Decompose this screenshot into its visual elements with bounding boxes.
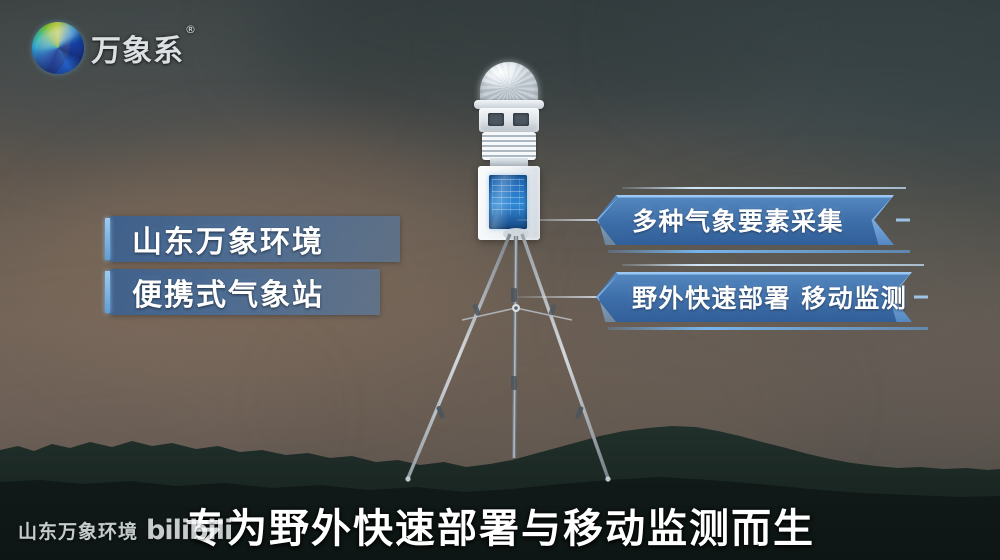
banner-bottom-line xyxy=(608,250,910,253)
left-banner-product[interactable]: 便携式气象站 xyxy=(110,269,380,315)
connector-line xyxy=(517,219,597,221)
video-frame: 万象系® xyxy=(0,0,1000,560)
globe-swirl-icon xyxy=(32,22,84,74)
registered-mark-icon: ® xyxy=(185,24,197,35)
radiation-shield-rings xyxy=(482,132,536,160)
feature-banner-deployment[interactable]: 野外快速部署 移动监测 xyxy=(594,272,912,322)
feature-banner-label: 野外快速部署 移动监测 xyxy=(594,272,912,322)
accent-bar-icon xyxy=(105,218,110,260)
feature-banner-collection[interactable]: 多种气象要素采集 xyxy=(594,195,894,245)
feature-banner-label: 多种气象要素采集 xyxy=(594,195,894,245)
tripod-stand xyxy=(390,228,630,496)
vent-opening xyxy=(513,113,529,126)
brand-logo-watermark: 万象系® xyxy=(32,22,197,74)
banner-top-line xyxy=(622,187,906,189)
bilibili-watermark: bilibili xyxy=(146,518,232,544)
portable-weather-station xyxy=(452,62,564,242)
sensor-head xyxy=(479,108,539,132)
banner-tip-icon xyxy=(896,219,910,222)
banner-tip-icon xyxy=(914,296,928,299)
brand-text: 万象系 xyxy=(91,34,184,69)
company-watermark: 山东万象环境 xyxy=(18,517,138,544)
brand-name: 万象系® xyxy=(91,26,197,70)
banner-top-line xyxy=(622,264,924,266)
left-banner-group: 山东万象环境 便携式气象站 xyxy=(110,216,400,322)
vent-opening xyxy=(488,113,504,126)
banner-bottom-line xyxy=(608,327,928,330)
connector-line xyxy=(517,296,597,298)
bottom-left-watermark: 山东万象环境 bilibili xyxy=(18,517,232,544)
left-banner-label: 山东万象环境 xyxy=(132,217,324,261)
left-banner-label: 便携式气象站 xyxy=(132,270,324,314)
cloud-blotch xyxy=(640,0,1000,130)
left-banner-company[interactable]: 山东万象环境 xyxy=(110,216,400,262)
accent-bar-icon xyxy=(105,271,110,313)
